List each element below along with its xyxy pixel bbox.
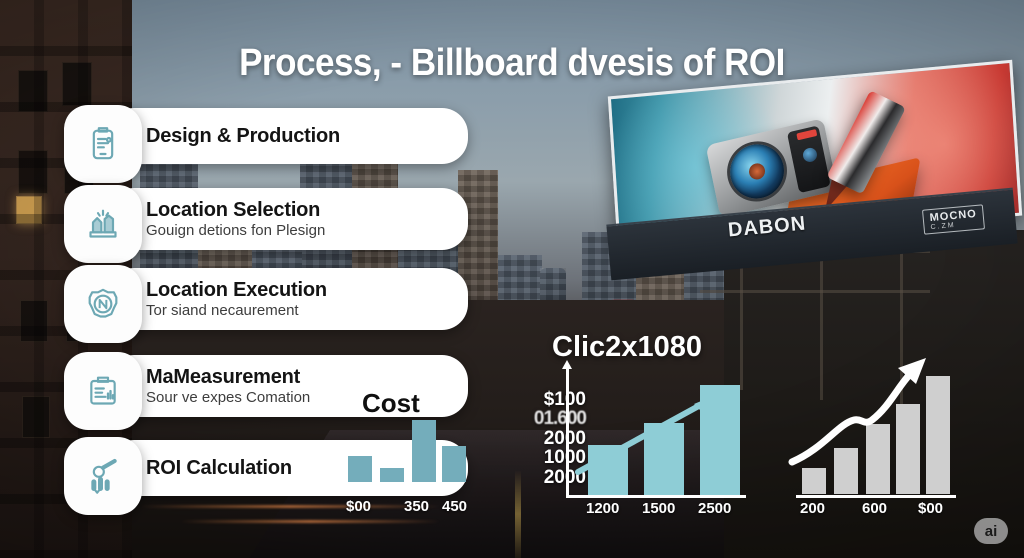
- step-icon-tile-4[interactable]: [64, 352, 142, 430]
- cost-chart: [344, 420, 470, 482]
- slide-canvas: DABON MOCNO C.ZM Process, - Billboard dv…: [0, 0, 1024, 558]
- cost-tick-1: $00: [346, 498, 371, 515]
- cost-chart-title: Cost: [362, 388, 420, 419]
- roi-tick-2: 600: [862, 500, 887, 517]
- north-badge-icon: [83, 284, 123, 324]
- step-text-group: Design & Production: [108, 117, 340, 155]
- clicks-tick-1: 1200: [586, 500, 619, 517]
- step-subtitle: Sour ve expes Comation: [146, 389, 310, 406]
- cost-tick-3: 450: [442, 498, 467, 515]
- step-icon-tile-3[interactable]: [64, 265, 142, 343]
- cost-bar-3: [412, 420, 436, 482]
- clicks-chart-title: Clic2x1080: [552, 331, 702, 364]
- step-title: ROI Calculation: [146, 457, 292, 479]
- phone-document-icon: [83, 124, 123, 164]
- cost-bar-4: [442, 446, 466, 482]
- step-subtitle: Tor siand necaurement: [146, 302, 327, 319]
- city-location-icon: [83, 204, 123, 244]
- step-card-location-selection[interactable]: Location Selection Gouign detions fon Pl…: [108, 188, 468, 250]
- clipboard-report-icon: [83, 371, 123, 411]
- billboard-graphic: DABON MOCNO C.ZM: [612, 78, 1012, 268]
- step-card-design-production[interactable]: Design & Production: [108, 108, 468, 164]
- cost-bar-2: [380, 468, 404, 482]
- clicks-tick-2: 1500: [642, 500, 675, 517]
- step-title: Location Selection: [146, 199, 325, 221]
- camera-lens: [725, 139, 789, 204]
- roi-tick-1: 200: [800, 500, 825, 517]
- step-title: Design & Production: [146, 125, 340, 147]
- step-icon-tile-2[interactable]: [64, 185, 142, 263]
- cost-bar-1: [348, 456, 372, 482]
- roi-growth-chart: [796, 370, 956, 498]
- step-title: Location Execution: [146, 279, 327, 301]
- step-card-location-execution[interactable]: Location Execution Tor siand necaurement: [108, 268, 468, 330]
- magnifier-bars-icon: [83, 456, 123, 496]
- step-title: MaMeasurement: [146, 366, 310, 388]
- step-icon-tile-5[interactable]: [64, 437, 142, 515]
- clicks-trend-arrow-icon: [556, 368, 746, 498]
- step-subtitle: Gouign detions fon Plesign: [146, 222, 325, 239]
- roi-trend-arrow-icon: [786, 328, 966, 498]
- roi-tick-3: $00: [918, 500, 943, 517]
- ai-watermark-badge: ai: [974, 518, 1008, 544]
- clicks-tick-3: 2500: [698, 500, 731, 517]
- slide-title: Process, - Billboard dvesis of ROI: [41, 42, 983, 85]
- step-icon-tile-1[interactable]: [64, 105, 142, 183]
- cost-tick-2: 350: [404, 498, 429, 515]
- clicks-chart: [556, 368, 746, 498]
